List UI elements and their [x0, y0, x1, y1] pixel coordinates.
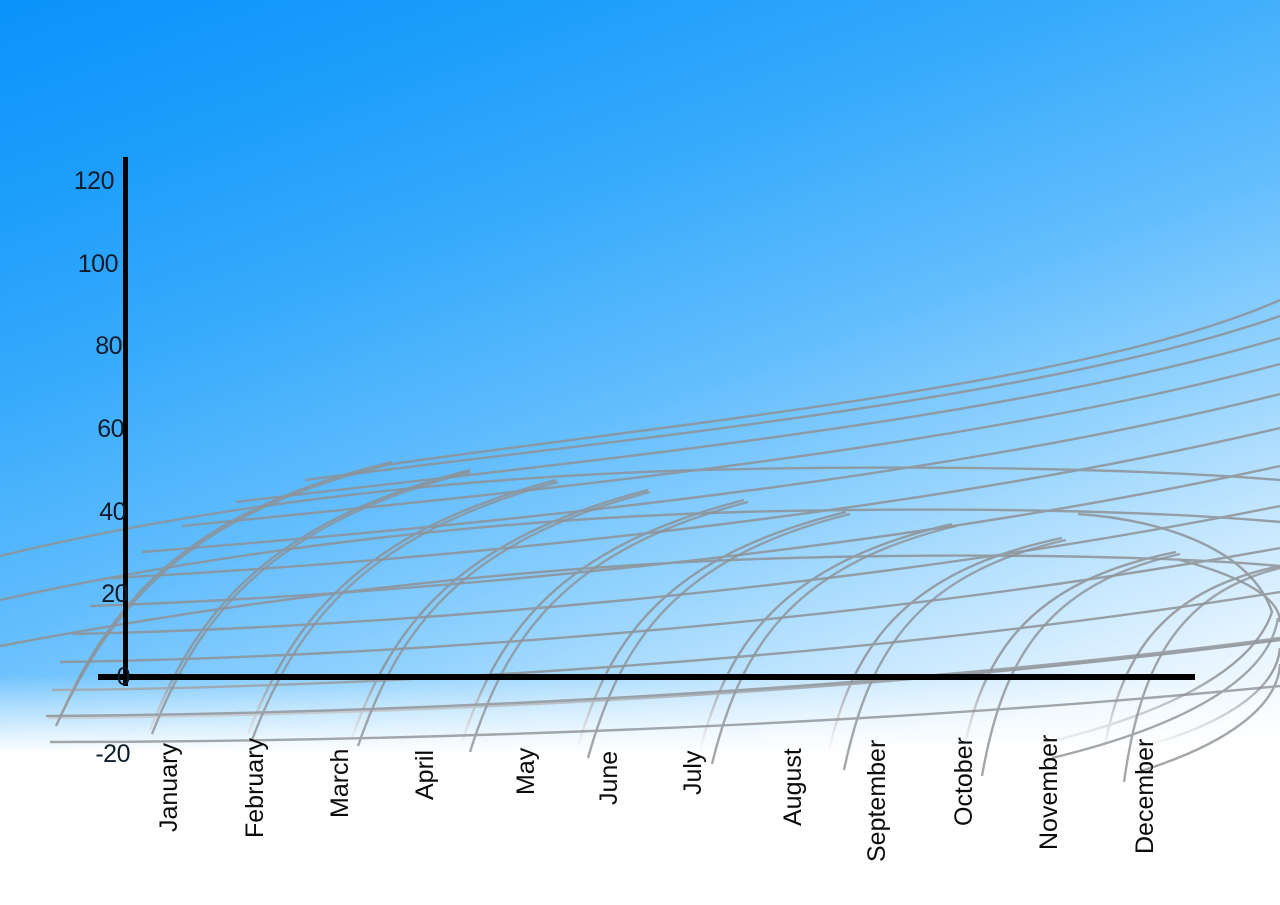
x-label-february: February — [241, 738, 270, 838]
y-tick-label-120: 120 — [52, 167, 114, 196]
x-label-november: November — [1035, 735, 1064, 850]
chart-canvas: 120 100 80 60 40 20 0 -20 January Februa… — [0, 0, 1280, 905]
zero-baseline — [98, 674, 1195, 680]
x-label-december: December — [1131, 739, 1160, 854]
x-label-june: June — [595, 751, 624, 805]
y-tick-label-minus20: -20 — [48, 740, 130, 769]
x-label-august: August — [779, 748, 808, 826]
x-label-may: May — [512, 748, 541, 795]
y-tick-label-0: 0 — [68, 663, 130, 692]
y-tick-label-40: 40 — [64, 498, 126, 527]
x-label-march: March — [326, 749, 355, 818]
y-tick-label-60: 60 — [62, 415, 124, 444]
x-label-september: September — [863, 740, 892, 862]
x-label-october: October — [950, 737, 979, 826]
plot-area: 120 100 80 60 40 20 0 -20 January Februa… — [0, 0, 1280, 905]
x-label-july: July — [679, 751, 708, 795]
y-tick-label-100: 100 — [56, 250, 118, 279]
y-tick-label-20: 20 — [66, 580, 128, 609]
x-label-january: January — [155, 743, 184, 832]
x-label-april: April — [411, 750, 440, 800]
y-tick-label-80: 80 — [60, 332, 122, 361]
